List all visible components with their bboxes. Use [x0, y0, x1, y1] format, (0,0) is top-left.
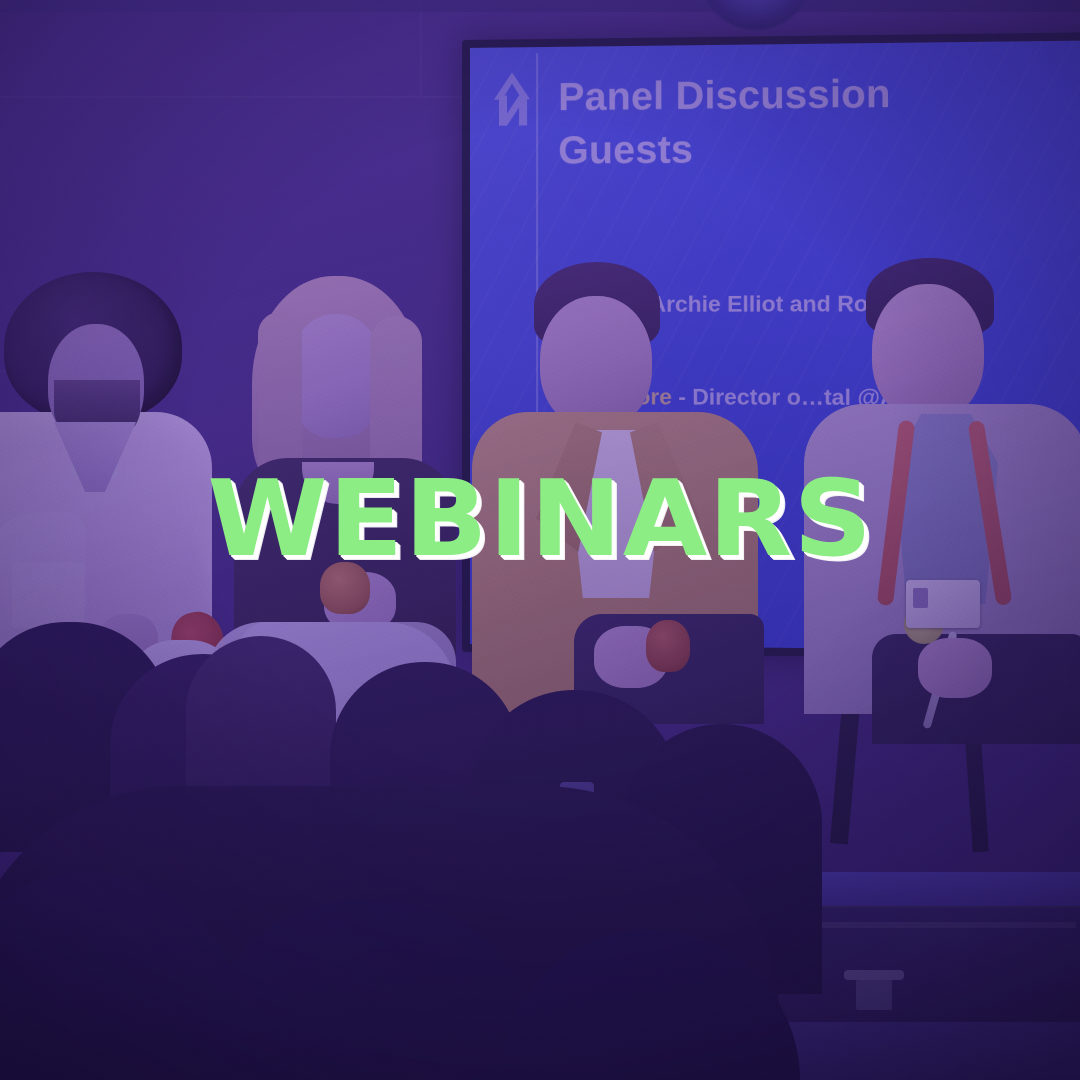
- headline-text: WEBINARS: [207, 467, 873, 572]
- webinars-promo-image: Panel Discussion Guests Artists - Archie…: [0, 0, 1080, 1080]
- headline-container: WEBINARS: [0, 466, 1080, 572]
